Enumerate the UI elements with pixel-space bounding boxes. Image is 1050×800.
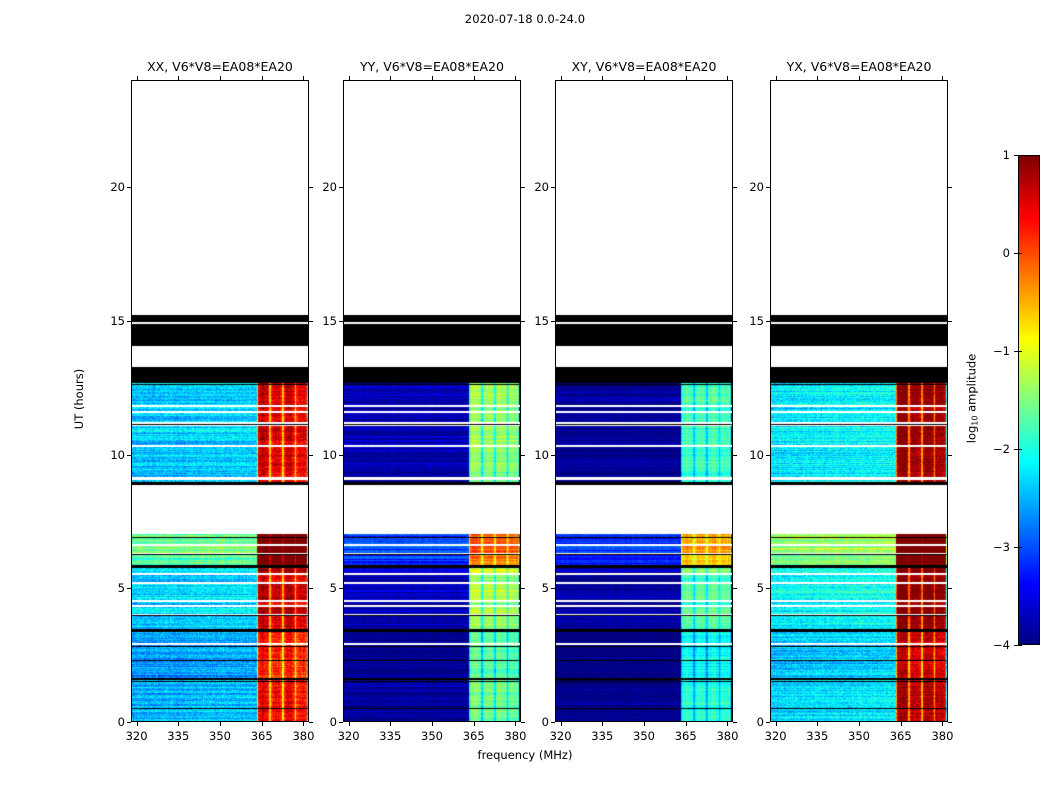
colorbar-ticklabel-1: −3 bbox=[974, 540, 1010, 554]
xticklabel-xy-0: 320 bbox=[550, 729, 572, 743]
yticklabel-yx-1: 5 bbox=[734, 581, 764, 595]
yticklabel-yy-0: 0 bbox=[307, 715, 337, 729]
xticklabel-xx-4: 380 bbox=[292, 729, 314, 743]
waterfall-image-yx bbox=[771, 81, 948, 722]
panel-yy: YY, V6*V8=EA08*EA20320335350365380051015… bbox=[343, 80, 521, 722]
yticklabel-xy-2: 10 bbox=[519, 448, 549, 462]
axes-yx bbox=[770, 80, 948, 722]
ytick-right-yx-0 bbox=[948, 722, 952, 723]
xtick-top-yy-1 bbox=[390, 76, 391, 80]
yticklabel-xy-4: 20 bbox=[519, 180, 549, 194]
colorbar-tick-inner-2 bbox=[1018, 449, 1022, 450]
panel-title-xx: XX, V6*V8=EA08*EA20 bbox=[131, 59, 309, 74]
ytick-xx-0 bbox=[127, 722, 131, 723]
xticklabel-xx-3: 365 bbox=[251, 729, 273, 743]
yticklabel-xy-0: 0 bbox=[519, 715, 549, 729]
xtick-top-xy-1 bbox=[602, 76, 603, 80]
xtick-yy-3 bbox=[474, 722, 475, 726]
xtick-top-yy-0 bbox=[349, 76, 350, 80]
colorbar-title-base: log bbox=[965, 426, 979, 444]
xtick-xx-0 bbox=[137, 722, 138, 726]
colorbar-gradient bbox=[1019, 156, 1040, 645]
ytick-xx-3 bbox=[127, 321, 131, 322]
xtick-top-xx-2 bbox=[220, 76, 221, 80]
xtick-xx-1 bbox=[178, 722, 179, 726]
xtick-top-yx-1 bbox=[817, 76, 818, 80]
colorbar-ticklabel-4: 0 bbox=[974, 246, 1010, 260]
yticklabel-yx-4: 20 bbox=[734, 180, 764, 194]
colorbar-title-subscript: 10 bbox=[971, 416, 980, 426]
xticklabel-yx-2: 350 bbox=[848, 729, 870, 743]
xtick-top-xy-2 bbox=[644, 76, 645, 80]
colorbar-tick-inner-0 bbox=[1018, 645, 1022, 646]
xtick-yx-1 bbox=[817, 722, 818, 726]
xtick-yx-4 bbox=[942, 722, 943, 726]
xtick-top-xx-4 bbox=[303, 76, 304, 80]
ytick-xx-4 bbox=[127, 187, 131, 188]
colorbar-tick-inner-3 bbox=[1018, 351, 1022, 352]
waterfall-image-xx bbox=[132, 81, 309, 722]
xtick-yy-4 bbox=[515, 722, 516, 726]
xticklabel-yx-3: 365 bbox=[890, 729, 912, 743]
xticklabel-yx-1: 335 bbox=[806, 729, 828, 743]
yticklabel-yy-3: 15 bbox=[307, 314, 337, 328]
yticklabel-xy-1: 5 bbox=[519, 581, 549, 595]
xticklabel-yy-3: 365 bbox=[463, 729, 485, 743]
ytick-yx-2 bbox=[766, 455, 770, 456]
xticklabel-yy-0: 320 bbox=[338, 729, 360, 743]
xtick-xx-2 bbox=[220, 722, 221, 726]
figure-suptitle: 2020-07-18 0.0-24.0 bbox=[0, 12, 1050, 26]
xticklabel-xx-2: 350 bbox=[209, 729, 231, 743]
xticklabel-xy-1: 335 bbox=[591, 729, 613, 743]
waterfall-image-yy bbox=[344, 81, 521, 722]
xtick-top-yy-3 bbox=[474, 76, 475, 80]
xtick-xy-3 bbox=[686, 722, 687, 726]
ytick-yy-1 bbox=[339, 588, 343, 589]
xtick-xy-1 bbox=[602, 722, 603, 726]
ytick-right-yx-3 bbox=[948, 321, 952, 322]
xtick-xx-3 bbox=[262, 722, 263, 726]
xticklabel-yx-4: 380 bbox=[931, 729, 953, 743]
waterfall-image-xy bbox=[556, 81, 733, 722]
xaxis-label: frequency (MHz) bbox=[0, 748, 1050, 762]
xtick-yx-3 bbox=[901, 722, 902, 726]
ytick-xy-4 bbox=[551, 187, 555, 188]
yticklabel-xx-1: 5 bbox=[95, 581, 125, 595]
xtick-top-xx-0 bbox=[137, 76, 138, 80]
panel-yx: YX, V6*V8=EA08*EA20320335350365380051015… bbox=[770, 80, 948, 722]
xtick-top-xx-1 bbox=[178, 76, 179, 80]
colorbar-title-rest: amplitude bbox=[965, 354, 979, 416]
colorbar-tick-inner-4 bbox=[1018, 253, 1022, 254]
figure-root: 2020-07-18 0.0-24.0 XX, V6*V8=EA08*EA203… bbox=[0, 0, 1050, 800]
yticklabel-xx-4: 20 bbox=[95, 180, 125, 194]
yticklabel-yx-0: 0 bbox=[734, 715, 764, 729]
ytick-yx-4 bbox=[766, 187, 770, 188]
xtick-top-yy-4 bbox=[515, 76, 516, 80]
axes-yy bbox=[343, 80, 521, 722]
xtick-xy-0 bbox=[561, 722, 562, 726]
axes-xx bbox=[131, 80, 309, 722]
colorbar-ticklabel-0: −4 bbox=[974, 638, 1010, 652]
xtick-top-yx-3 bbox=[901, 76, 902, 80]
panel-title-yy: YY, V6*V8=EA08*EA20 bbox=[343, 59, 521, 74]
panel-xy: XY, V6*V8=EA08*EA20320335350365380051015… bbox=[555, 80, 733, 722]
xtick-top-xy-4 bbox=[727, 76, 728, 80]
ytick-right-yx-4 bbox=[948, 187, 952, 188]
yticklabel-xx-2: 10 bbox=[95, 448, 125, 462]
ytick-xy-0 bbox=[551, 722, 555, 723]
yticklabel-yy-2: 10 bbox=[307, 448, 337, 462]
ytick-yy-3 bbox=[339, 321, 343, 322]
xtick-top-yy-2 bbox=[432, 76, 433, 80]
xticklabel-yx-0: 320 bbox=[765, 729, 787, 743]
yaxis-label: UT (hours) bbox=[72, 329, 86, 469]
yticklabel-yy-1: 5 bbox=[307, 581, 337, 595]
xticklabel-yy-4: 380 bbox=[504, 729, 526, 743]
xtick-yy-1 bbox=[390, 722, 391, 726]
ytick-xx-1 bbox=[127, 588, 131, 589]
xtick-xy-4 bbox=[727, 722, 728, 726]
xticklabel-xy-3: 365 bbox=[675, 729, 697, 743]
yticklabel-xx-3: 15 bbox=[95, 314, 125, 328]
yticklabel-xy-3: 15 bbox=[519, 314, 549, 328]
xtick-top-xx-3 bbox=[262, 76, 263, 80]
xtick-top-yx-0 bbox=[776, 76, 777, 80]
axes-xy bbox=[555, 80, 733, 722]
xtick-yx-0 bbox=[776, 722, 777, 726]
colorbar-title: log10 amplitude bbox=[965, 329, 980, 469]
xticklabel-xx-1: 335 bbox=[167, 729, 189, 743]
ytick-yy-0 bbox=[339, 722, 343, 723]
xticklabel-xy-2: 350 bbox=[633, 729, 655, 743]
colorbar-tick-inner-5 bbox=[1018, 155, 1022, 156]
colorbar-frame bbox=[1018, 155, 1040, 645]
ytick-yx-0 bbox=[766, 722, 770, 723]
ytick-xx-2 bbox=[127, 455, 131, 456]
xticklabel-yy-2: 350 bbox=[421, 729, 443, 743]
colorbar-ticklabel-5: 1 bbox=[974, 148, 1010, 162]
xtick-top-yx-2 bbox=[859, 76, 860, 80]
xticklabel-yy-1: 335 bbox=[379, 729, 401, 743]
ytick-right-yx-1 bbox=[948, 588, 952, 589]
xtick-yy-2 bbox=[432, 722, 433, 726]
xtick-yx-2 bbox=[859, 722, 860, 726]
ytick-xy-3 bbox=[551, 321, 555, 322]
ytick-xy-2 bbox=[551, 455, 555, 456]
yticklabel-yx-2: 10 bbox=[734, 448, 764, 462]
yticklabel-yx-3: 15 bbox=[734, 314, 764, 328]
xtick-yy-0 bbox=[349, 722, 350, 726]
ytick-right-yx-2 bbox=[948, 455, 952, 456]
xtick-xy-2 bbox=[644, 722, 645, 726]
xtick-top-xy-3 bbox=[686, 76, 687, 80]
ytick-yy-2 bbox=[339, 455, 343, 456]
yticklabel-xx-0: 0 bbox=[95, 715, 125, 729]
ytick-yx-1 bbox=[766, 588, 770, 589]
xticklabel-xy-4: 380 bbox=[716, 729, 738, 743]
ytick-yx-3 bbox=[766, 321, 770, 322]
colorbar-group: −4−3−2−101log10 amplitude bbox=[1018, 155, 1040, 645]
xticklabel-xx-0: 320 bbox=[126, 729, 148, 743]
ytick-xy-1 bbox=[551, 588, 555, 589]
ytick-yy-4 bbox=[339, 187, 343, 188]
panel-xx: XX, V6*V8=EA08*EA20320335350365380051015… bbox=[131, 80, 309, 722]
panel-title-xy: XY, V6*V8=EA08*EA20 bbox=[555, 59, 733, 74]
panel-title-yx: YX, V6*V8=EA08*EA20 bbox=[770, 59, 948, 74]
xtick-top-yx-4 bbox=[942, 76, 943, 80]
colorbar-tick-inner-1 bbox=[1018, 547, 1022, 548]
xtick-xx-4 bbox=[303, 722, 304, 726]
yticklabel-yy-4: 20 bbox=[307, 180, 337, 194]
xtick-top-xy-0 bbox=[561, 76, 562, 80]
